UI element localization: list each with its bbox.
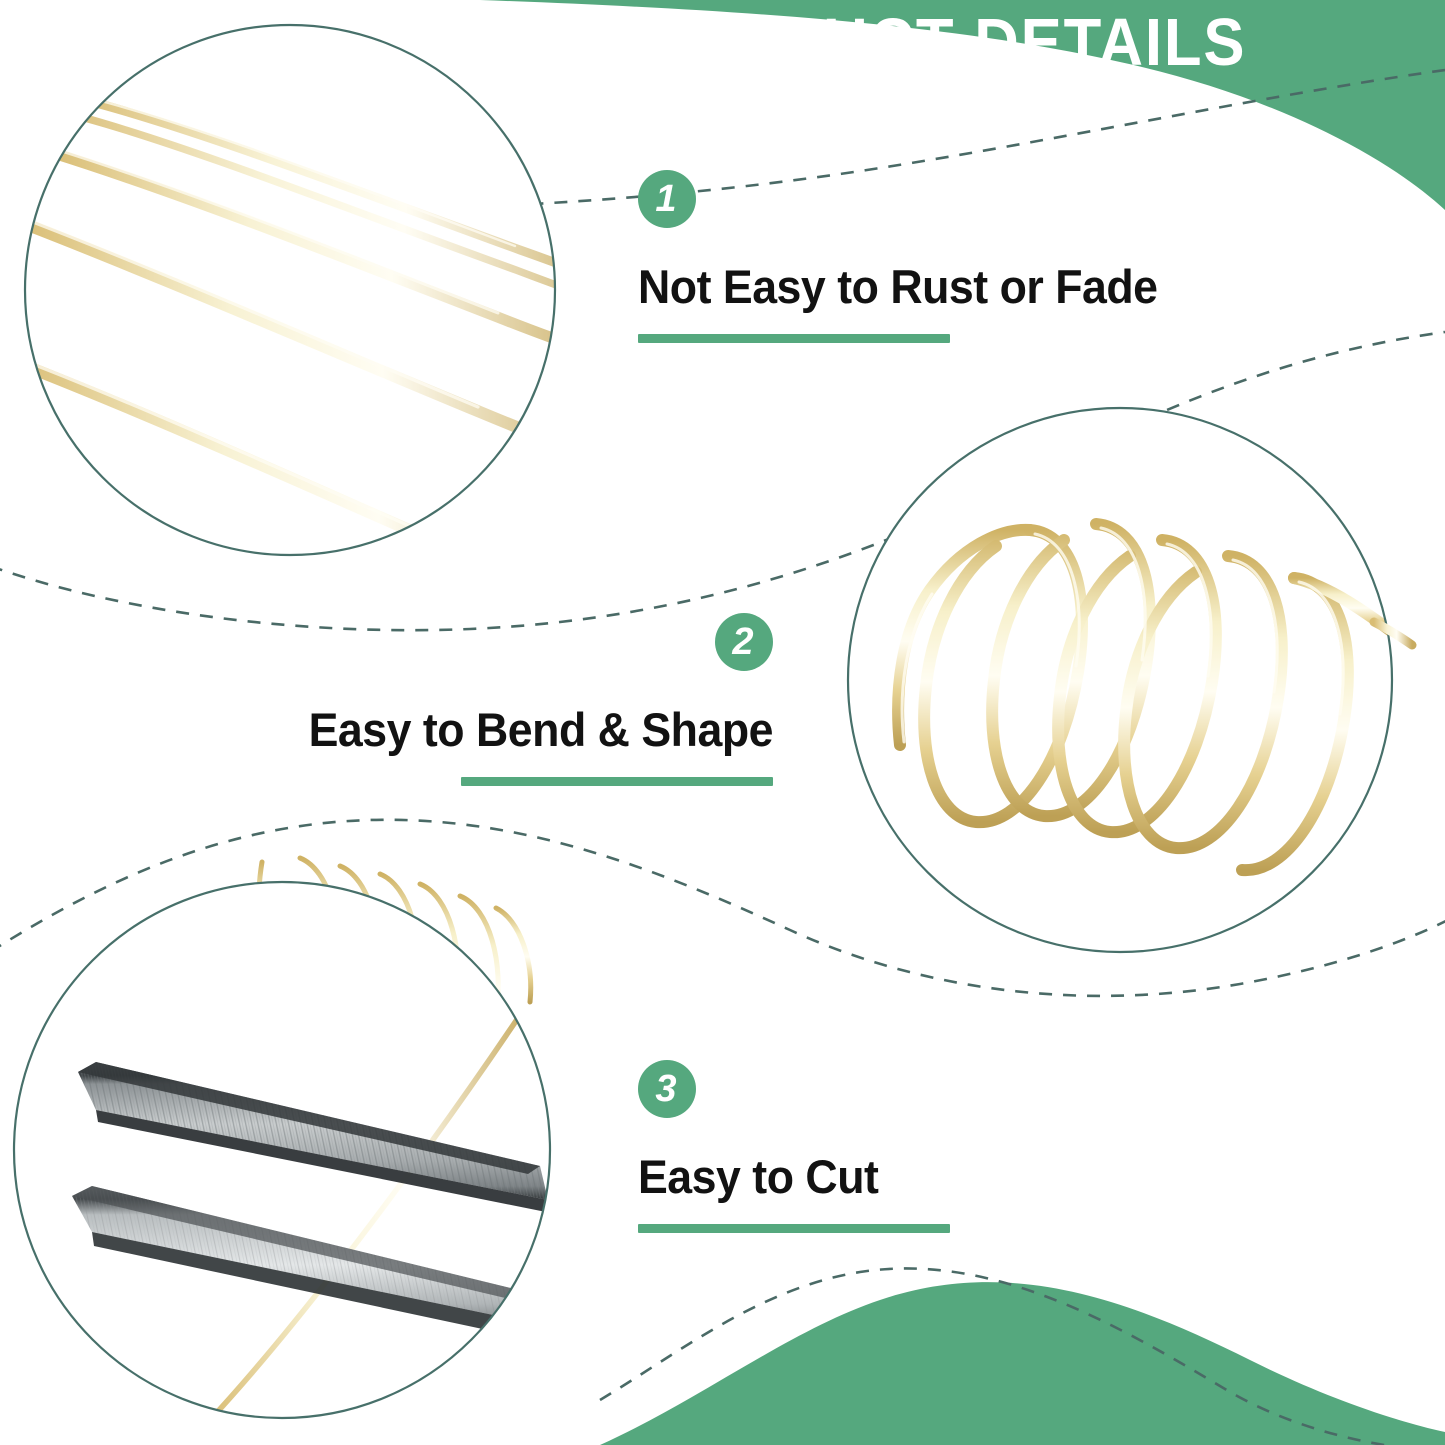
coiled-gold-wire-photo: [840, 400, 1412, 960]
feature-underline-2: [461, 777, 773, 786]
bottom-green-wave-shape: [600, 1282, 1445, 1445]
product-details-infographic: PRODUCT DETAILS 1 Not Easy to Rust or Fa…: [0, 0, 1445, 1445]
wire-cutter-photo: [10, 858, 566, 1425]
feature-block-3: 3 Easy to Cut: [638, 1060, 950, 1233]
gold-wire-strands-photo: [10, 20, 625, 614]
feature-block-1: 1 Not Easy to Rust or Fade: [638, 170, 1185, 343]
number-badge-icon-1: 1: [638, 170, 696, 228]
page-title: PRODUCT DETAILS: [620, 6, 1264, 80]
feature-underline-3: [638, 1224, 950, 1233]
feature-title-2: Easy to Bend & Shape: [274, 705, 773, 754]
feature-title-1: Not Easy to Rust or Fade: [638, 262, 1158, 311]
feature-block-2: 2 Easy to Bend & Shape: [248, 613, 773, 786]
feature-underline-1: [638, 334, 950, 343]
number-badge-icon-3: 3: [638, 1060, 696, 1118]
feature-title-3: Easy to Cut: [638, 1152, 934, 1201]
number-badge-icon-2: 2: [715, 613, 773, 671]
